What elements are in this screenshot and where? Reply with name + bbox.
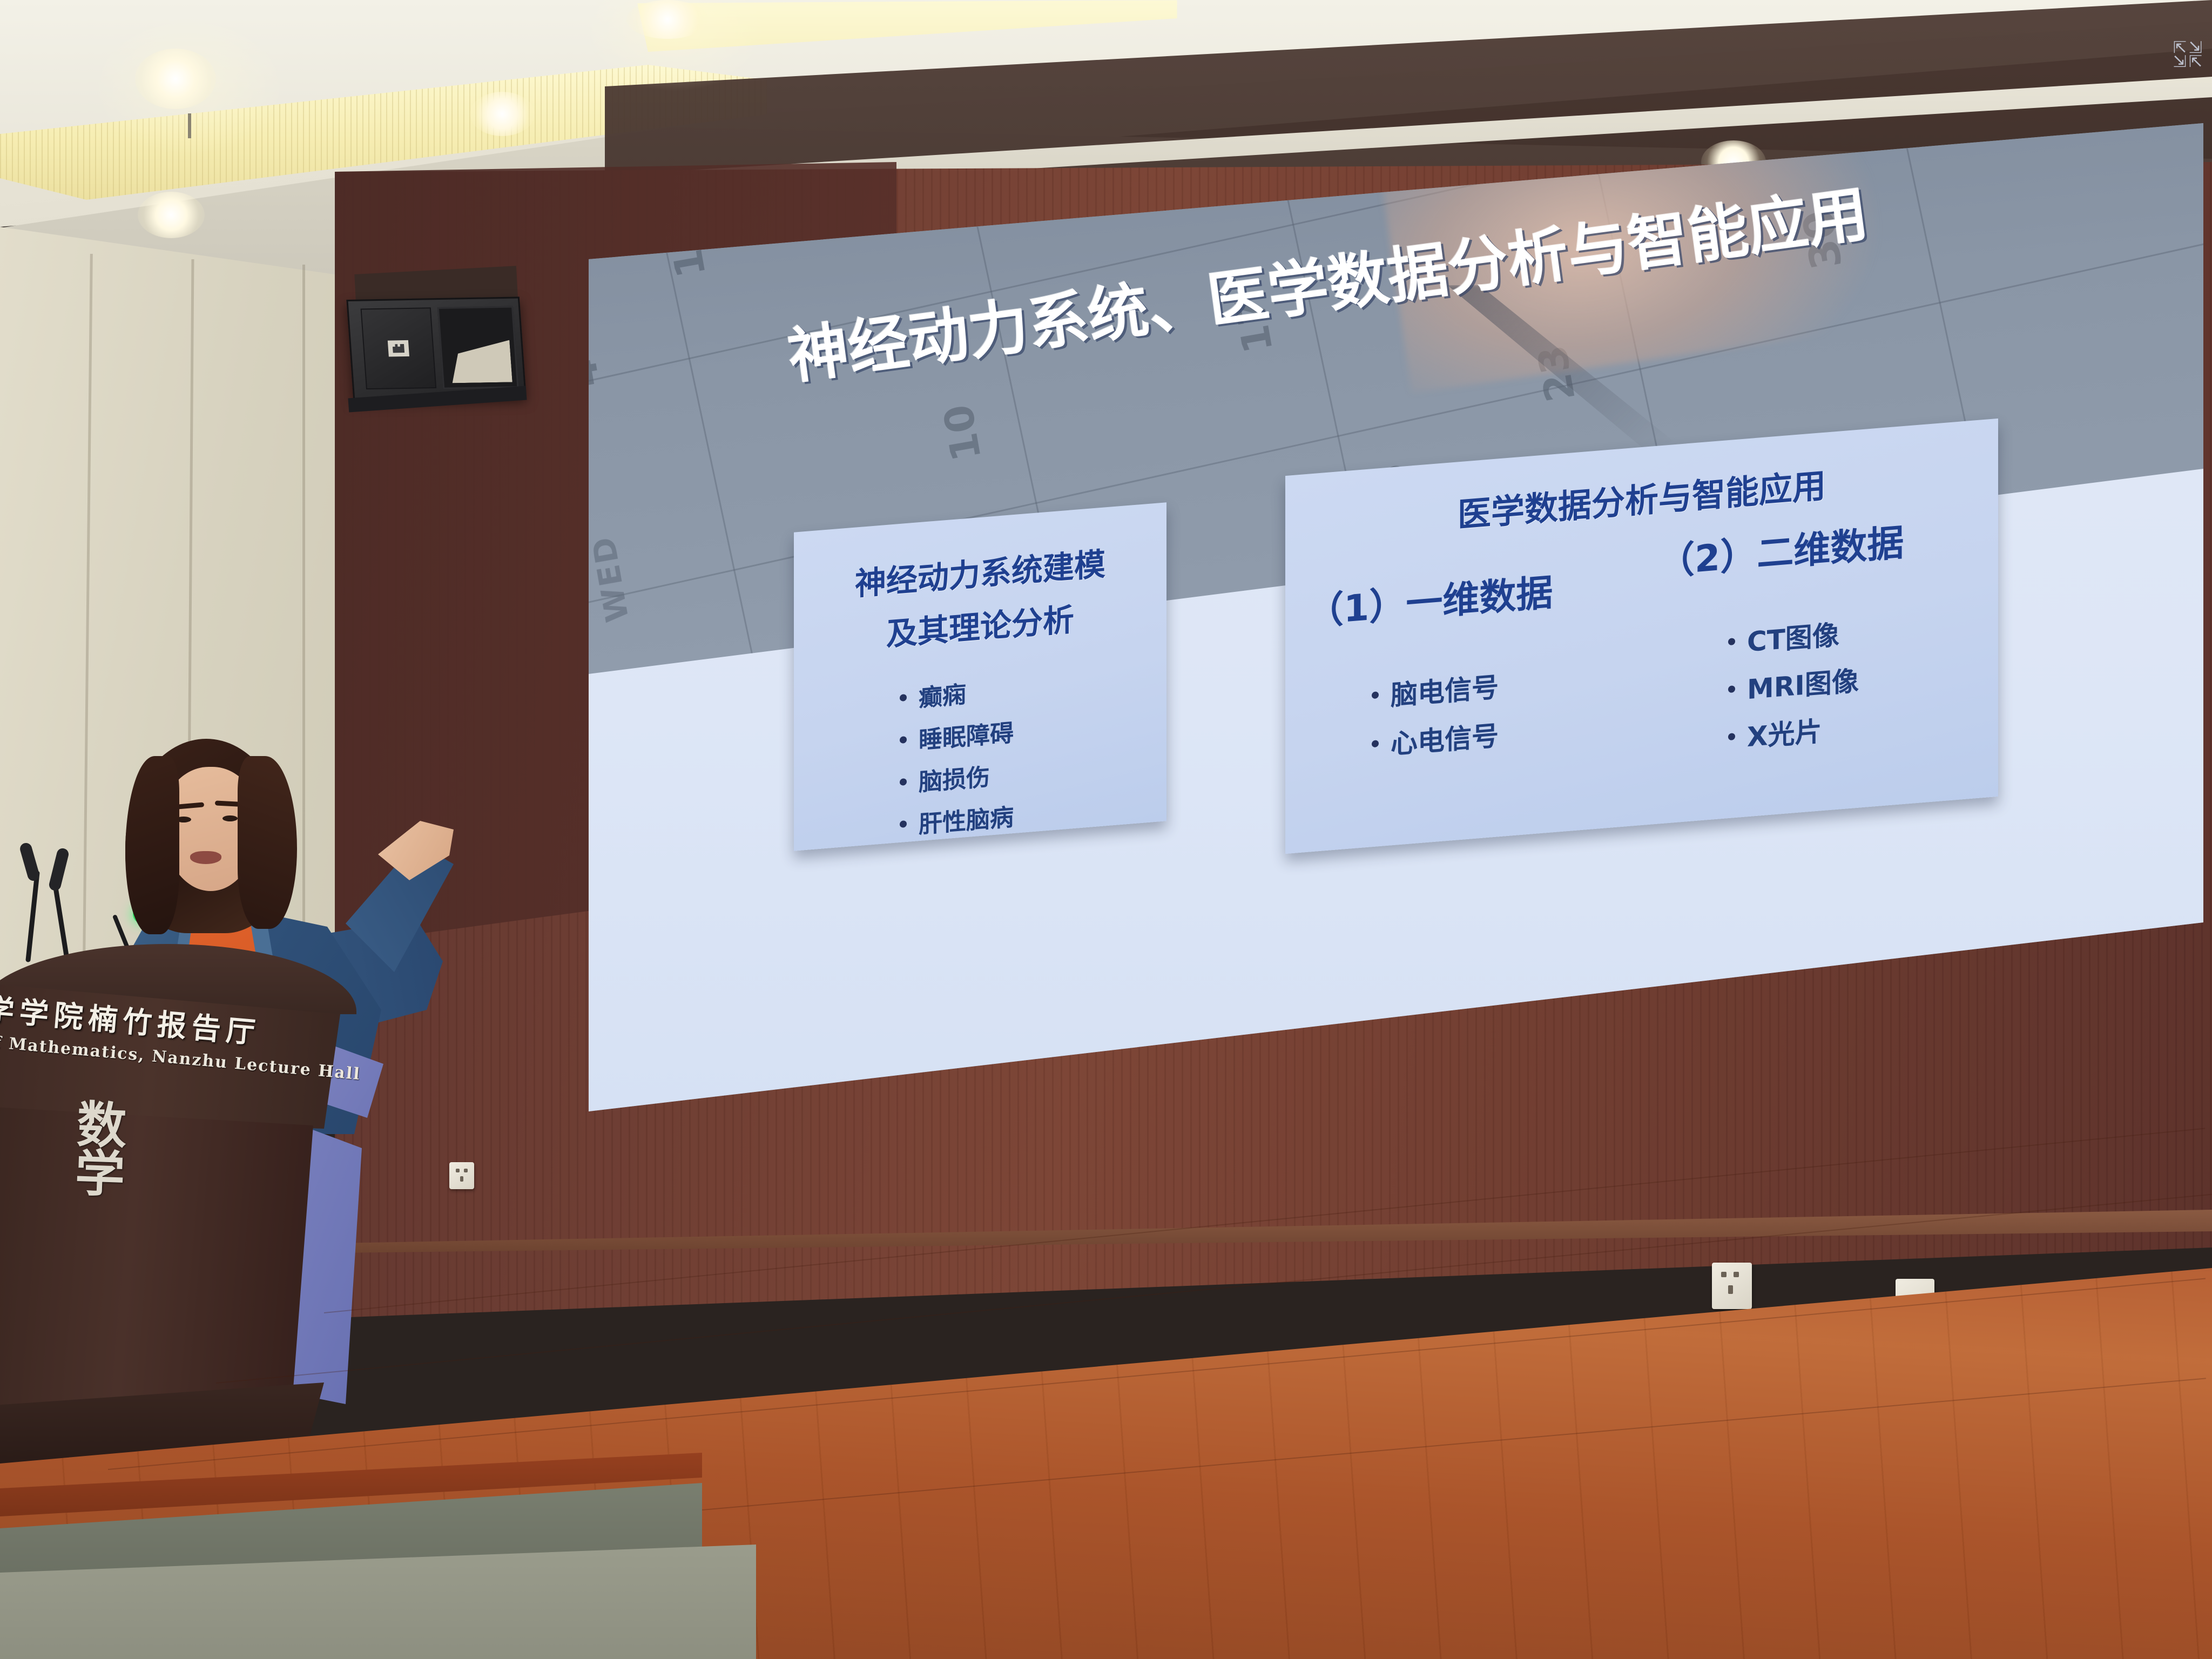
list-item: 脑电信号: [1372, 655, 1631, 715]
outlet-slot: [1734, 1272, 1739, 1277]
bullet-dot: [900, 778, 907, 785]
left-box-bullet-list: 癫痫 睡眠障碍 脑损伤 肝性脑病: [900, 659, 1166, 841]
list-item-label: CT图像: [1747, 613, 1839, 660]
ceiling-downlight: [626, 0, 709, 39]
list-item: 心电信号: [1372, 704, 1631, 764]
list-item-label: 肝性脑病: [919, 798, 1014, 840]
outlet-slot: [464, 1169, 468, 1172]
list-item-label: 癫痫: [919, 675, 966, 713]
outlet-slot: [456, 1169, 460, 1172]
ceiling-downlight: [138, 192, 205, 238]
sprinkler-head: [188, 113, 191, 138]
speaker-eye: [222, 815, 238, 821]
bullet-dot: [1728, 685, 1735, 693]
list-item-label: X光片: [1747, 710, 1822, 754]
jbl-logo: [388, 340, 409, 357]
slide-right-box: 医学数据分析与智能应用 （1）一维数据 脑电信号 心电信号 （2）二维数据: [1285, 419, 1998, 854]
jbl-loudspeaker: [346, 296, 526, 399]
podium-seal-emblem: 数学: [73, 1100, 164, 1222]
corner-arrow-marks: ⇱⇲⇲⇱: [2173, 41, 2204, 69]
calendar-day-label: WED: [589, 533, 636, 625]
lecture-hall-photo: 18 11 4 10 3 17 23 16 30 9 WED 神经动力系统、医学…: [0, 0, 2212, 1659]
outlet-slot: [460, 1176, 463, 1182]
bullet-dot: [900, 820, 907, 827]
ceiling-downlight: [470, 92, 535, 136]
list-item-label: 脑电信号: [1391, 665, 1499, 713]
horn-throat: [444, 312, 512, 383]
outlet-slot: [1728, 1285, 1733, 1294]
bullet-dot: [1728, 733, 1735, 740]
right-box-group2-heading: （2）二维数据: [1658, 504, 2004, 585]
bullet-dot: [1728, 638, 1735, 645]
ceiling-downlight: [135, 49, 216, 109]
list-item-label: 睡眠障碍: [919, 713, 1014, 756]
right-box-group2-list: CT图像 MRI图像 X光片: [1728, 600, 2004, 756]
list-item-label: 脑损伤: [919, 758, 990, 798]
calendar-date: 10: [935, 401, 990, 464]
list-item-label: 心电信号: [1391, 714, 1499, 761]
outlet-slot: [1721, 1272, 1727, 1277]
list-item-label: MRI图像: [1747, 659, 1859, 707]
speaker-horn: [437, 306, 519, 389]
wall-seam: [302, 265, 305, 945]
right-box-group1-list: 脑电信号 心电信号: [1372, 655, 1631, 764]
bullet-dot: [1372, 740, 1379, 747]
calendar-date: 4: [589, 355, 609, 392]
bullet-dot: [900, 736, 907, 743]
slide-left-box: 神经动力系统建模 及其理论分析 癫痫 睡眠障碍 脑损伤 肝性脑病: [794, 502, 1166, 851]
wall-power-outlet[interactable]: [1712, 1263, 1752, 1309]
bullet-dot: [1372, 691, 1379, 699]
right-box-group1-heading: （1）一维数据: [1307, 556, 1631, 636]
bullet-dot: [900, 693, 907, 701]
speaker-mouth: [190, 851, 221, 864]
wall-power-outlet[interactable]: [449, 1162, 474, 1189]
